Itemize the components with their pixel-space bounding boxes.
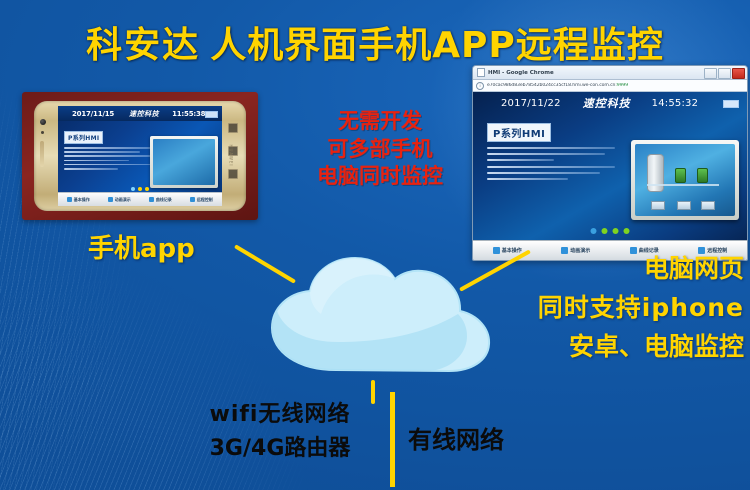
- phone-recent-icon: [228, 123, 238, 133]
- web-card-heading: P系列HMI: [487, 123, 551, 142]
- maximize-button[interactable]: [718, 68, 731, 79]
- pipe-graphic: [647, 184, 719, 186]
- phone-card-heading: P系列HMI: [64, 131, 103, 144]
- cloud-network: [258, 252, 498, 382]
- bottom-left-line-2: 3G/4G路由器: [175, 432, 385, 466]
- bottom-right-note: 有线网络: [408, 420, 578, 455]
- web-info-card: P系列HMI: [487, 122, 615, 184]
- page-title: 科安达人机界面手机APP远程监控: [0, 16, 750, 68]
- web-battery-icon: [723, 100, 739, 108]
- center-note: 无需开发 可多部手机 电脑同时监控: [295, 108, 465, 191]
- phone-app-statusbar: 2017/11/15 速控科技 11:55:38: [58, 106, 222, 121]
- phone-brand: 速控科技: [129, 109, 159, 119]
- page-title-text: 人机界面手机APP远程监控: [210, 25, 664, 66]
- browser-address-bar[interactable]: i e70cac986d83eb78542b024cc35cf18.hmi.we…: [473, 80, 747, 92]
- phone-photo: HUAWEI 2017/11/15 速控科技 11:55:38 P系列HMI: [22, 92, 258, 220]
- web-date: 2017/11/22: [501, 98, 561, 109]
- center-note-line-1: 无需开发: [295, 108, 465, 136]
- pump-graphic-2: [697, 168, 708, 183]
- value-box-3: [701, 201, 715, 210]
- right-note-line-3: 安卓、电脑监控: [484, 328, 744, 367]
- web-carousel-dots[interactable]: [591, 228, 630, 234]
- phone-card-body-text: [64, 147, 154, 170]
- phone-back-icon: [228, 169, 238, 179]
- phone-body: HUAWEI 2017/11/15 速控科技 11:55:38 P系列HMI: [34, 101, 246, 211]
- phone-nav-item-0[interactable]: 基本操作: [67, 197, 90, 203]
- phone-side-button: [40, 141, 44, 167]
- phone-nav-item-3[interactable]: 远程控制: [190, 197, 213, 203]
- phone-time: 11:55:38: [172, 110, 205, 118]
- close-button[interactable]: [732, 68, 745, 79]
- phone-brand-logo: HUAWEI: [228, 144, 233, 166]
- phone-nav-item-1[interactable]: 动画演示: [108, 197, 131, 203]
- value-box-1: [651, 201, 665, 210]
- web-brand: 速控科技: [583, 95, 631, 111]
- browser-titlebar[interactable]: HMI - Google Chrome: [473, 66, 747, 80]
- favicon-icon: [477, 68, 485, 77]
- vertical-divider: [390, 392, 395, 487]
- phone-date: 2017/11/15: [72, 110, 114, 118]
- phone-carousel-dots[interactable]: [131, 187, 149, 191]
- phone-bottom-nav[interactable]: 基本操作 动画演示 曲线记录 远程控制: [58, 192, 222, 206]
- web-card-body-text: [487, 147, 615, 180]
- chart-icon: [149, 197, 154, 202]
- browser-window-title: HMI - Google Chrome: [488, 70, 554, 76]
- minimize-button[interactable]: [704, 68, 717, 79]
- poster-canvas: 科安达人机界面手机APP远程监控 HUAWEI 2017/11/15 速控科技 …: [0, 0, 750, 490]
- center-note-line-3: 电脑同时监控: [295, 163, 465, 191]
- value-box-2: [677, 201, 691, 210]
- phone-hmi-device-image: [150, 136, 218, 188]
- phone-camera-icon: [40, 119, 46, 125]
- browser-page-content: 2017/11/22 速控科技 14:55:32 P系列HMI: [473, 92, 747, 260]
- phone-sensor-icon: [41, 131, 44, 134]
- battery-icon: [205, 111, 218, 118]
- window-controls[interactable]: [704, 68, 745, 79]
- bottom-left-note: wifi无线网络 3G/4G路由器: [175, 398, 385, 466]
- web-time: 14:55:32: [652, 98, 699, 109]
- info-icon: i: [476, 82, 484, 90]
- phone-info-card: P系列HMI: [64, 125, 154, 172]
- right-note: 电脑网页 同时支持iphone 安卓、电脑监控: [484, 250, 744, 366]
- web-hmi-device-image: [631, 140, 739, 220]
- remote-icon: [190, 197, 195, 202]
- hand-icon: [67, 197, 72, 202]
- web-app-statusbar: 2017/11/22 速控科技 14:55:32: [473, 92, 747, 114]
- phone-caption: 手机app: [88, 228, 195, 265]
- tank-graphic: [647, 154, 664, 192]
- phone-screen: 2017/11/15 速控科技 11:55:38 P系列HMI: [58, 106, 222, 206]
- browser-window: HMI - Google Chrome i e70cac986d83eb7854…: [472, 65, 748, 261]
- url-text: e70cac986d83eb78542b024cc35cf18.hmi.we-c…: [487, 83, 628, 88]
- right-note-line-2: 同时支持iphone: [484, 289, 744, 328]
- phone-nav-item-2[interactable]: 曲线记录: [149, 197, 172, 203]
- pump-graphic-1: [675, 168, 686, 183]
- bottom-left-line-1: wifi无线网络: [175, 398, 385, 432]
- play-icon: [108, 197, 113, 202]
- page-title-brand: 科安达: [86, 25, 200, 66]
- center-note-line-2: 可多部手机: [295, 136, 465, 164]
